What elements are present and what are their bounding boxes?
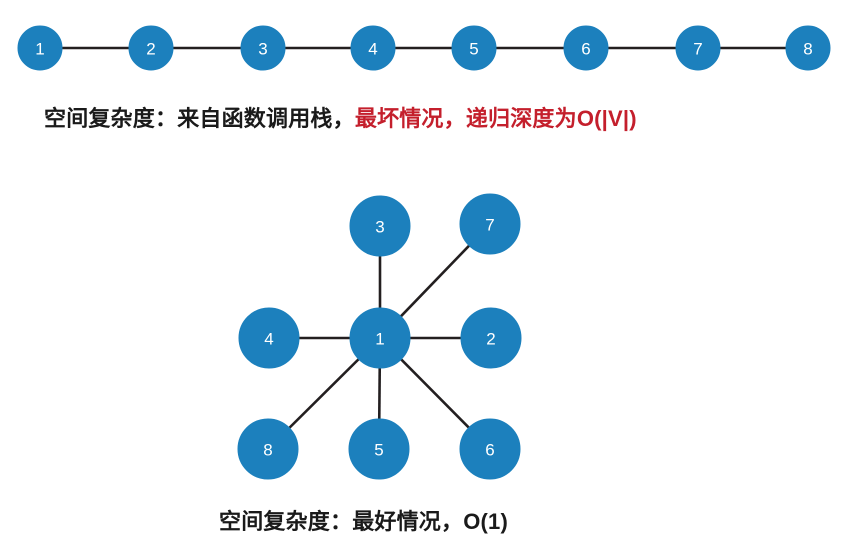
graph-node: 6 [564,26,608,70]
graph-node: 4 [239,308,299,368]
graph-node: 5 [349,419,409,479]
graph-node: 3 [350,196,410,256]
graph-node-label: 4 [368,40,377,59]
graph-node-label: 3 [258,40,267,59]
caption-worst-case-prefix: 空间复杂度：来自函数调用栈， [44,106,355,131]
graph-node-label: 6 [485,441,494,460]
diagram-canvas: 12345678 13726584 空间复杂度：来自函数调用栈，最坏情况，递归深… [0,0,864,549]
graph-node-label: 2 [146,40,155,59]
graph-node-label: 1 [35,40,44,59]
graph-node-label: 1 [375,330,384,349]
graph-edge [399,243,472,318]
graph-node: 1 [350,308,410,368]
graph-node-label: 8 [263,441,272,460]
graph-node-label: 5 [374,441,383,460]
graph-node: 7 [460,194,520,254]
caption-best-case-text: 空间复杂度：最好情况，O(1) [219,509,508,534]
graph-node: 2 [461,308,521,368]
graph-node: 7 [676,26,720,70]
graph-node-label: 5 [469,40,478,59]
graph-node-label: 4 [264,330,273,349]
graph-node: 8 [786,26,830,70]
graph-node-label: 7 [485,216,494,235]
caption-best-case: 空间复杂度：最好情况，O(1) [219,504,508,536]
graph-node: 8 [238,419,298,479]
graph-node: 5 [452,26,496,70]
caption-worst-case-highlight: 最坏情况，递归深度为O(|V|) [355,106,637,131]
graph-node-label: 6 [581,40,590,59]
graph-edge [379,365,380,422]
graph-node: 1 [18,26,62,70]
caption-worst-case: 空间复杂度：来自函数调用栈，最坏情况，递归深度为O(|V|) [44,101,637,133]
graph-node: 4 [351,26,395,70]
star-graph-nodes: 13726584 [238,194,521,479]
graph-edge [287,357,361,430]
graph-edge [399,357,471,430]
graph-node-label: 3 [375,218,384,237]
graph-node: 3 [241,26,285,70]
graph-node: 2 [129,26,173,70]
graph-node-label: 8 [803,40,812,59]
graph-node-label: 2 [486,330,495,349]
graph-node-label: 7 [693,40,702,59]
graph-node: 6 [460,419,520,479]
graph-illustrations: 12345678 13726584 [0,0,864,549]
